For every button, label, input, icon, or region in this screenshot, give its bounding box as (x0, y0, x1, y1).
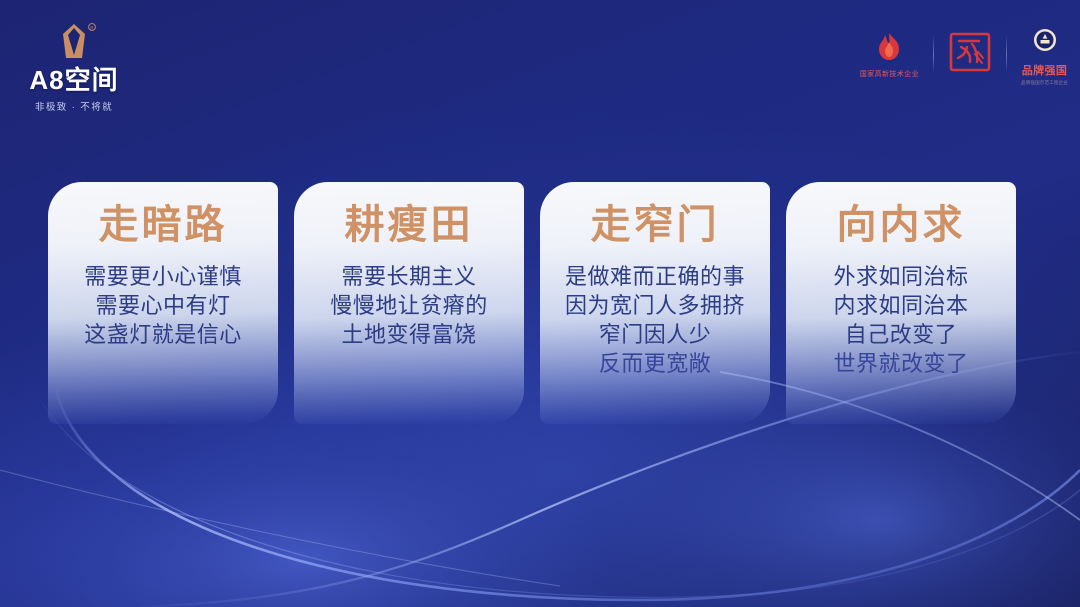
card-body: 是做难而正确的事 因为宽门人多拥挤 窄门因人少 反而更宽敞 (550, 262, 760, 378)
philosophy-card-2[interactable]: 耕瘦田 需要长期主义 慢慢地让贫瘠的 土地变得富饶 (294, 182, 524, 424)
card-line: 土地变得富饶 (304, 320, 514, 349)
slide-canvas: R A8空间 非极致 · 不将就 国家高新技术企业 (0, 0, 1080, 607)
card-line: 窄门因人少 (550, 320, 760, 349)
card-title: 走窄门 (550, 204, 760, 246)
card-line: 反而更宽敞 (550, 349, 760, 378)
card-line: 世界就改变了 (796, 349, 1006, 378)
card-line: 是做难而正确的事 (550, 262, 760, 291)
svg-text:R: R (90, 26, 93, 31)
certification-badges: 国家高新技术企业 品牌强国 品牌强 (860, 22, 1068, 86)
red-seal-stamp-icon (948, 34, 992, 70)
a8-diamond-pen-icon: R (14, 18, 134, 66)
philosophy-card-4[interactable]: 向内求 外求如同治标 内求如同治本 自己改变了 世界就改变了 (786, 182, 1016, 424)
badge-brand-power: 品牌强国 品牌强国示范工程企业 (1021, 22, 1068, 86)
philosophy-card-row: 走暗路 需要更小心谨慎 需要心中有灯 这盏灯就是信心 耕瘦田 需要长期主义 慢慢… (48, 182, 1016, 424)
card-line: 慢慢地让贫瘠的 (304, 291, 514, 320)
card-line: 需要心中有灯 (58, 291, 268, 320)
brand-logo: R A8空间 非极致 · 不将就 (14, 18, 134, 113)
badge-label: 品牌强国 (1022, 62, 1068, 78)
card-line: 内求如同治本 (796, 291, 1006, 320)
card-line: 自己改变了 (796, 320, 1006, 349)
card-title: 向内求 (796, 204, 1006, 246)
brand-tagline: 非极致 · 不将就 (14, 99, 134, 113)
badge-label: 国家高新技术企业 (860, 69, 919, 79)
flame-emblem-icon (872, 29, 906, 65)
card-line: 需要长期主义 (304, 262, 514, 291)
card-title: 耕瘦田 (304, 204, 514, 246)
card-body: 需要长期主义 慢慢地让贫瘠的 土地变得富饶 (304, 262, 514, 349)
badge-national-hi-tech: 国家高新技术企业 (860, 29, 919, 79)
card-line: 外求如同治标 (796, 262, 1006, 291)
card-title: 走暗路 (58, 204, 268, 246)
card-line: 需要更小心谨慎 (58, 262, 268, 291)
badge-divider-1 (933, 35, 934, 73)
badge-divider-2 (1006, 35, 1007, 73)
card-body: 外求如同治标 内求如同治本 自己改变了 世界就改变了 (796, 262, 1006, 378)
card-line: 因为宽门人多拥挤 (550, 291, 760, 320)
badge-sublabel: 品牌强国示范工程企业 (1021, 80, 1068, 86)
philosophy-card-3[interactable]: 走窄门 是做难而正确的事 因为宽门人多拥挤 窄门因人少 反而更宽敞 (540, 182, 770, 424)
card-body: 需要更小心谨慎 需要心中有灯 这盏灯就是信心 (58, 262, 268, 349)
badge-red-seal (948, 34, 992, 74)
philosophy-card-1[interactable]: 走暗路 需要更小心谨慎 需要心中有灯 这盏灯就是信心 (48, 182, 278, 424)
card-line: 这盏灯就是信心 (58, 320, 268, 349)
brand-wordmark: A8空间 (14, 67, 134, 93)
laurel-crest-icon (1032, 22, 1058, 58)
